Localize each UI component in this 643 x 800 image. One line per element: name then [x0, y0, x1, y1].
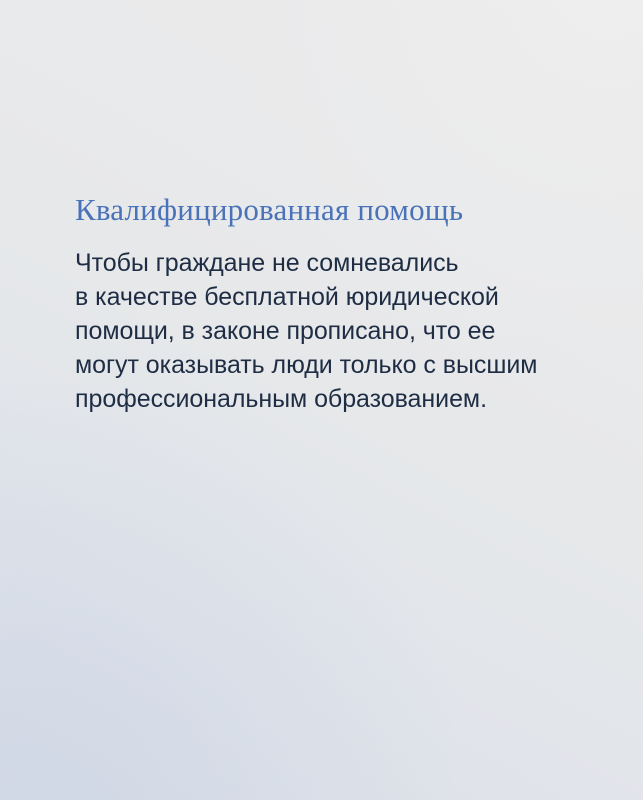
- slide-body-text: Чтобы граждане не сомневались в качестве…: [75, 229, 605, 416]
- body-line: помощи, в законе прописано, что ее: [75, 314, 605, 348]
- body-line: в качестве бесплатной юридической: [75, 280, 605, 314]
- body-line: профессиональным образованием.: [75, 382, 605, 416]
- slide-canvas: Квалифицированная помощь Чтобы граждане …: [0, 0, 643, 800]
- body-line: могут оказывать люди только с высшим: [75, 348, 605, 382]
- page-title: Квалифицированная помощь: [75, 192, 605, 229]
- slide-text-block: Квалифицированная помощь Чтобы граждане …: [75, 192, 605, 416]
- body-line: Чтобы граждане не сомневались: [75, 246, 605, 280]
